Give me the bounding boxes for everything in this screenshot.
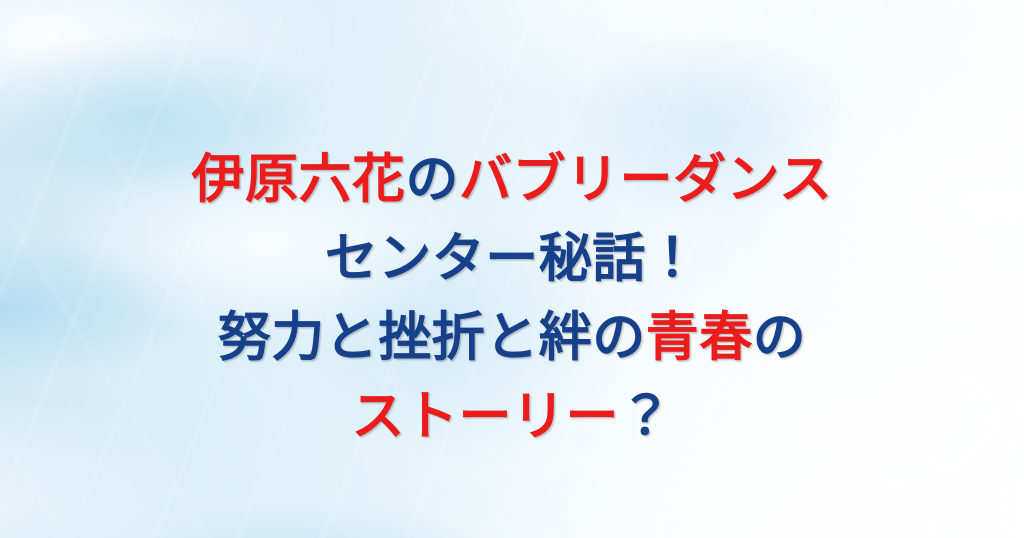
title-segment-effort-setback-bond: 努力と挫折と絆の [218, 307, 646, 368]
title-segment-particle-no-2: の [753, 307, 807, 368]
title-card: 伊原六花のバブリーダンス センター秘話！ 努力と挫折と絆の青春の ストーリー？ [0, 0, 1024, 538]
title-segment-particle-no: の [406, 149, 460, 210]
title-line-1: 伊原六花のバブリーダンス [0, 140, 1024, 219]
title-line-3: 努力と挫折と絆の青春の [0, 298, 1024, 377]
title-line-2: センター秘話！ [0, 219, 1024, 298]
title-segment-story: ストーリー [352, 386, 620, 447]
page-title: 伊原六花のバブリーダンス センター秘話！ 努力と挫折と絆の青春の ストーリー？ [0, 140, 1024, 456]
title-segment-bubbly-dance: バブリーダンス [459, 149, 832, 210]
title-segment-name: 伊原六花 [192, 149, 406, 210]
title-line-4: ストーリー？ [0, 377, 1024, 456]
title-segment-seishun: 青春 [646, 307, 753, 368]
title-segment-question-mark: ？ [619, 386, 673, 447]
title-segment-center-hiwa: センター秘話！ [325, 228, 700, 289]
